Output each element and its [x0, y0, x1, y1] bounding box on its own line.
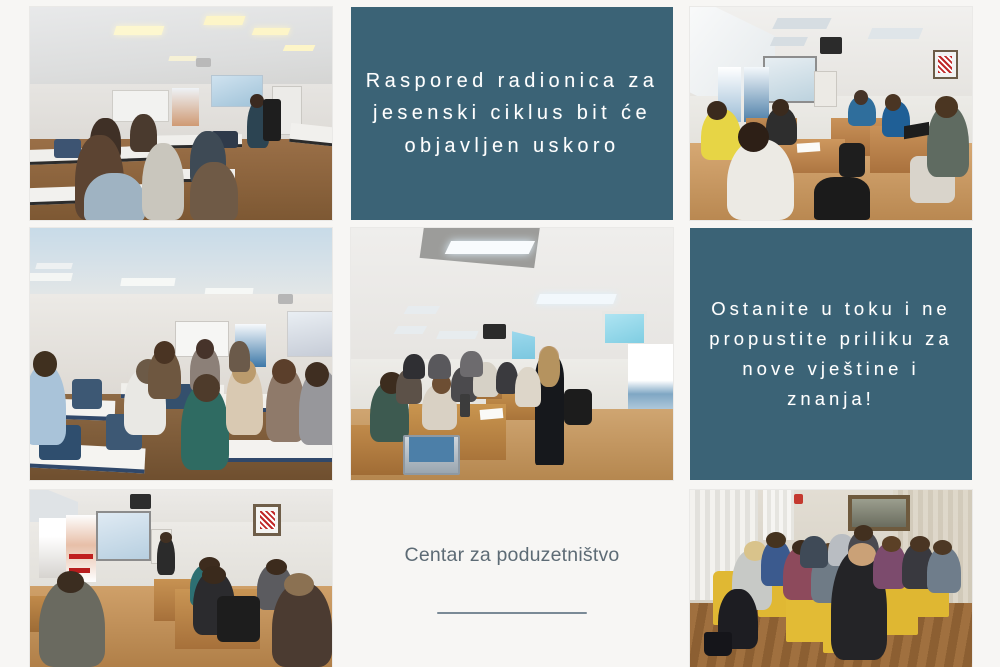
skylight [602, 311, 647, 346]
person [800, 536, 828, 568]
water-bottle [460, 394, 470, 417]
person [84, 173, 144, 220]
ceiling-light [404, 306, 441, 314]
person [428, 354, 451, 379]
ceiling-light [204, 16, 246, 25]
presenter [229, 341, 250, 371]
person [515, 367, 541, 407]
chair [814, 177, 870, 220]
presenter-hair [538, 346, 561, 386]
head [738, 122, 769, 152]
projector [820, 37, 843, 54]
photo-4-scene [351, 228, 673, 480]
head [707, 101, 727, 120]
door [814, 71, 837, 107]
photo-6-scene [690, 490, 972, 667]
head [160, 532, 172, 543]
head [202, 566, 226, 584]
head [57, 571, 84, 592]
chair [54, 139, 81, 158]
rollup-banner [172, 88, 199, 126]
projector [483, 324, 506, 339]
laptop-screen [409, 437, 454, 462]
coat [263, 99, 281, 142]
boots [704, 632, 732, 657]
ceiling-light [770, 37, 808, 46]
quote-panel-1[interactable]: Raspored radionica za jesenski ciklus bi… [351, 7, 673, 220]
head [910, 536, 930, 552]
projection-screen [96, 511, 150, 561]
person [403, 354, 426, 379]
collage-photo-1[interactable] [30, 7, 332, 220]
ceiling-light [113, 26, 164, 35]
ceiling-light [445, 241, 535, 254]
banner-red-text [69, 554, 93, 559]
photo-2-scene [690, 7, 972, 220]
head [193, 374, 220, 402]
ceiling-light [394, 326, 427, 334]
quote-panel-2-text: Ostanite u toku i ne propustite priliku … [702, 294, 960, 414]
rollup-banner [744, 67, 769, 122]
ceiling-light [536, 294, 617, 304]
quote-panel-2[interactable]: Ostanite u toku i ne propustite priliku … [690, 228, 972, 480]
collage-photo-4[interactable] [351, 228, 673, 480]
head [772, 99, 789, 116]
wall-sconce [794, 494, 802, 505]
ceiling-light [436, 331, 478, 339]
projection-screen [287, 311, 332, 356]
collage-photo-6[interactable] [690, 490, 972, 667]
collage-caption: Centar za poduzetništvo [351, 490, 673, 667]
ceiling-light [30, 273, 73, 281]
person [142, 143, 184, 220]
ceiling-light [168, 56, 197, 61]
head [854, 90, 868, 105]
person [190, 162, 238, 220]
ceiling [30, 228, 332, 304]
person-white-coat [727, 139, 795, 220]
person [460, 351, 483, 376]
projector [196, 58, 211, 67]
projector [130, 494, 151, 510]
ceiling-light [35, 263, 73, 269]
quote-panel-1-text: Raspored radionica za jesenski ciklus bi… [363, 65, 661, 162]
head [33, 351, 57, 376]
head [305, 362, 329, 387]
ceiling-light [868, 28, 923, 39]
collage-photo-2[interactable] [690, 7, 972, 220]
ceiling-light [120, 278, 176, 286]
head [154, 341, 175, 364]
ceiling-light [252, 28, 291, 35]
photo-collage: Raspored radionica za jesenski ciklus bi… [0, 0, 1000, 667]
chair [839, 143, 864, 177]
projector [278, 294, 293, 304]
coat-of-arms [938, 56, 952, 73]
chair [72, 379, 102, 409]
head [935, 96, 958, 117]
photo-5-scene [30, 490, 332, 667]
caption-divider [437, 612, 587, 614]
coat-of-arms [260, 511, 275, 529]
coat-on-chair [217, 596, 259, 642]
photo-1-scene [30, 7, 332, 220]
chair [564, 389, 593, 424]
head [284, 573, 314, 596]
projection-screen [763, 56, 817, 103]
rollup-banner [39, 518, 66, 578]
page-title: Centar za poduzetništvo [405, 544, 620, 567]
collage-photo-3[interactable] [30, 228, 332, 480]
ceiling-light [772, 18, 831, 29]
ceiling-light [282, 45, 315, 51]
head [266, 559, 287, 575]
collage-photo-5[interactable] [30, 490, 332, 667]
photo-3-scene [30, 228, 332, 480]
head [272, 359, 296, 384]
head [848, 543, 876, 566]
